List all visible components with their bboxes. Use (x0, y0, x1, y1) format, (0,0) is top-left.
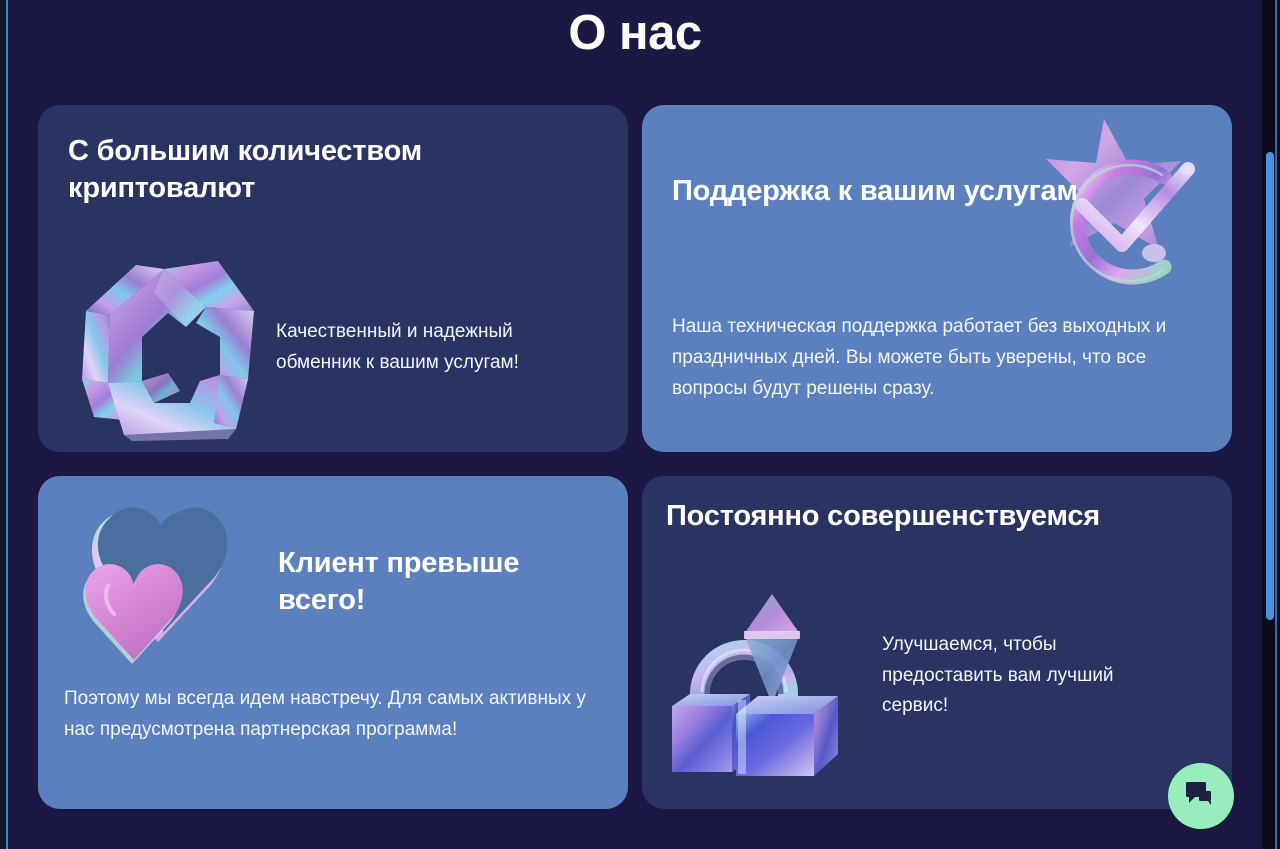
padlock-icon (662, 576, 862, 776)
chat-bubbles-icon (1186, 782, 1216, 811)
page-scrollbar[interactable] (1262, 0, 1280, 849)
feature-card-support[interactable]: Поддержка к вашим услугам Наша техническ… (642, 105, 1232, 452)
card-body: Поэтому мы всегда идем навстречу. Для са… (64, 684, 598, 746)
page-content: О нас С большим количеством криптовалют (8, 0, 1262, 849)
feature-card-improving[interactable]: Постоянно совершенствуемся (642, 476, 1232, 809)
scrollbar-thumb[interactable] (1266, 152, 1274, 620)
features-grid: С большим количеством криптовалют (38, 105, 1232, 809)
card-content-row: Клиент превыше всего! (56, 482, 602, 682)
scrollbar-track-line (1275, 0, 1277, 849)
hearts-icon (56, 482, 266, 682)
crystal-icon (68, 253, 268, 443)
card-body-wrap: Улучшаемся, чтобы предоставить вам лучши… (882, 630, 1172, 722)
card-body: Улучшаемся, чтобы предоставить вам лучши… (882, 630, 1172, 722)
card-content-row: Качественный и надежный обменник к вашим… (68, 253, 602, 443)
card-content-row: Улучшаемся, чтобы предоставить вам лучши… (662, 576, 1208, 776)
star-check-icon (1026, 117, 1216, 307)
card-title: Клиент превыше всего! (278, 545, 578, 619)
card-body-wrap: Качественный и надежный обменник к вашим… (276, 317, 576, 379)
feature-card-client-first[interactable]: Клиент превыше всего! Поэтому мы всегда … (38, 476, 628, 809)
chat-widget-button[interactable] (1168, 763, 1234, 829)
feature-card-crypto-variety[interactable]: С большим количеством криптовалют (38, 105, 628, 452)
card-title: С большим количеством криптовалют (68, 133, 528, 207)
page-title: О нас (8, 0, 1262, 58)
browser-left-gutter (0, 0, 8, 849)
card-body: Наша техническая поддержка работает без … (672, 312, 1192, 404)
card-title: Постоянно совершенствуемся (666, 498, 1100, 535)
card-title: Поддержка к вашим услугам (672, 173, 1078, 210)
card-body: Качественный и надежный обменник к вашим… (276, 317, 576, 379)
